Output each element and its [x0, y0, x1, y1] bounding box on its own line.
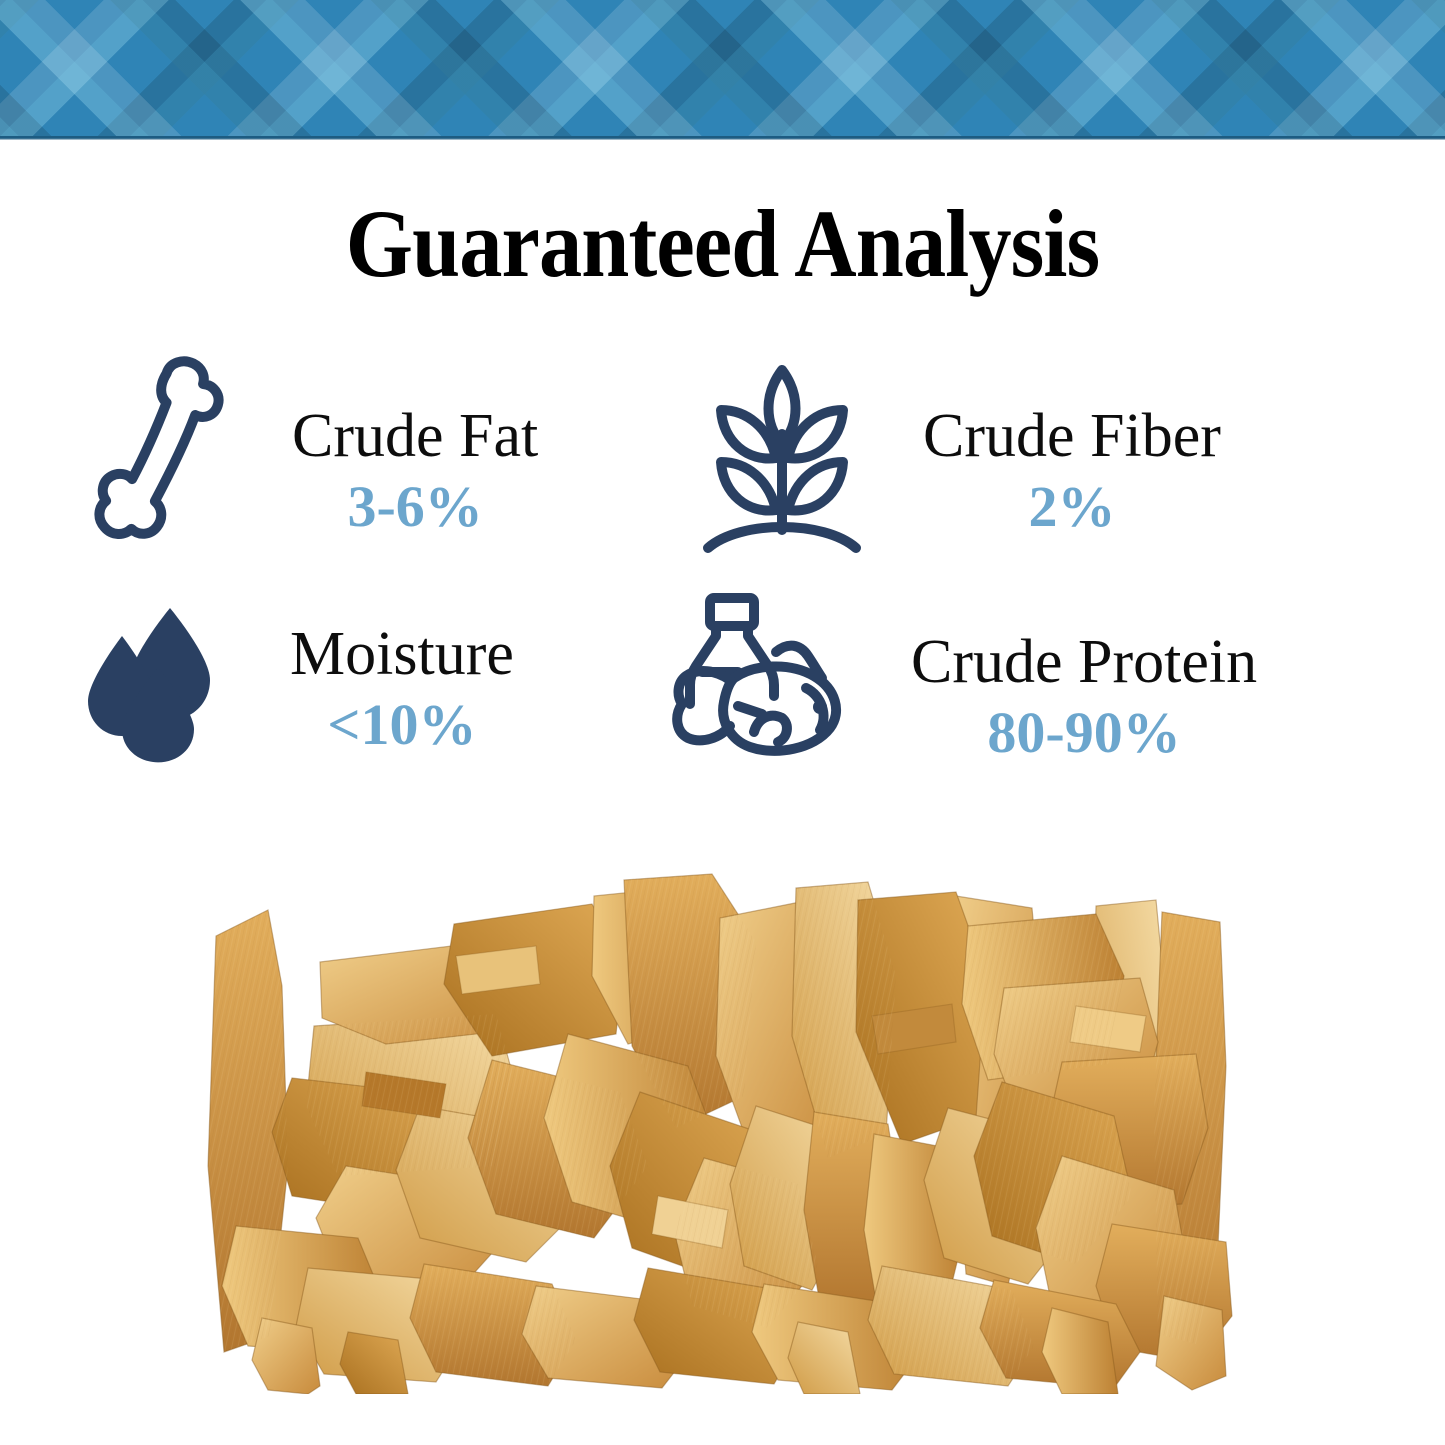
guaranteed-analysis-stats: Crude Fat 3-6% — [60, 352, 1390, 822]
header-plaid-band — [0, 0, 1445, 139]
stat-crude-fat-text: Crude Fat 3-6% — [292, 404, 538, 539]
water-drops-icon — [82, 600, 232, 785]
header-divider-rule — [0, 136, 1445, 140]
plaid-pattern-overlay — [0, 0, 1445, 139]
stat-crude-fiber-label: Crude Fiber — [923, 404, 1221, 469]
stat-crude-protein-value: 80-90% — [987, 701, 1180, 765]
stat-crude-protein: Crude Protein 80-90% — [672, 592, 1257, 772]
stat-crude-protein-label: Crude Protein — [911, 630, 1257, 695]
stat-crude-fiber-value: 2% — [1028, 475, 1115, 539]
stat-crude-fat-label: Crude Fat — [292, 404, 538, 469]
stat-crude-fiber-text: Crude Fiber 2% — [923, 404, 1221, 539]
product-photo-dried-fish-strips — [196, 866, 1248, 1394]
wheat-plant-icon — [700, 352, 865, 562]
stat-moisture: Moisture <10% — [82, 600, 514, 785]
fish-bottle-icon — [672, 592, 867, 772]
bone-icon — [82, 352, 232, 562]
stat-crude-fat: Crude Fat 3-6% — [82, 352, 538, 562]
stat-crude-fiber: Crude Fiber 2% — [700, 352, 1221, 562]
stat-crude-fat-value: 3-6% — [347, 475, 482, 539]
stat-moisture-text: Moisture <10% — [290, 622, 514, 757]
stat-moisture-label: Moisture — [290, 622, 514, 687]
stat-moisture-value: <10% — [327, 693, 476, 757]
page-title: Guaranteed Analysis — [72, 196, 1373, 292]
stat-crude-protein-text: Crude Protein 80-90% — [911, 630, 1257, 765]
